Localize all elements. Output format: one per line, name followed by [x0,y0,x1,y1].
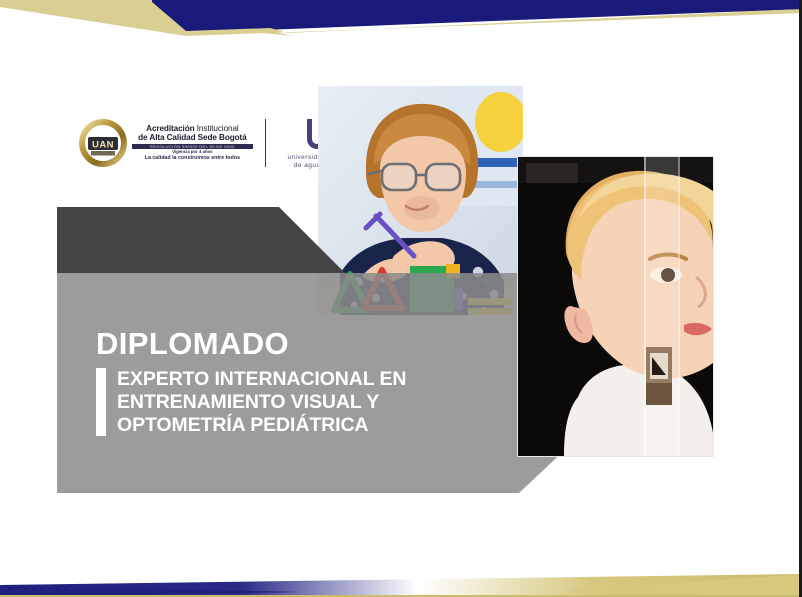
photo-boy-profile-vision-therapy [518,157,713,456]
accreditation-line-1: Acreditación Institucional [132,124,253,133]
top-angular-banner [0,0,802,40]
subtitle-line-1: EXPERTO INTERNACIONAL EN [117,368,406,391]
subtitle-row: EXPERTO INTERNACIONAL EN ENTRENAMIENTO V… [96,368,406,436]
bottom-diagonal-stripe [0,552,802,597]
accreditation-tagline: La calidad la construimos entre todos [132,156,253,162]
accreditation-text-block: Acreditación Institucional de Alta Calid… [132,124,253,162]
uan-seal-icon: UAN [78,118,128,168]
subtitle-line-2: ENTRENAMIENTO VISUAL Y [117,391,406,414]
logo-divider [265,119,266,167]
panel-dark-band [57,207,585,273]
title-block: DIPLOMADO EXPERTO INTERNACIONAL EN ENTRE… [96,328,406,436]
page-subtitle: EXPERTO INTERNACIONAL EN ENTRENAMIENTO V… [117,368,406,436]
page-title-kicker: DIPLOMADO [96,328,406,359]
svg-text:UAN: UAN [92,140,114,151]
presentation-slide: UAN Acreditación Institucional de Alta C… [0,0,802,597]
accent-bar [96,368,106,436]
subtitle-line-3: OPTOMETRÍA PEDIÁTRICA [117,414,406,437]
accreditation-line-2: de Alta Calidad Sede Bogotá [132,133,253,142]
